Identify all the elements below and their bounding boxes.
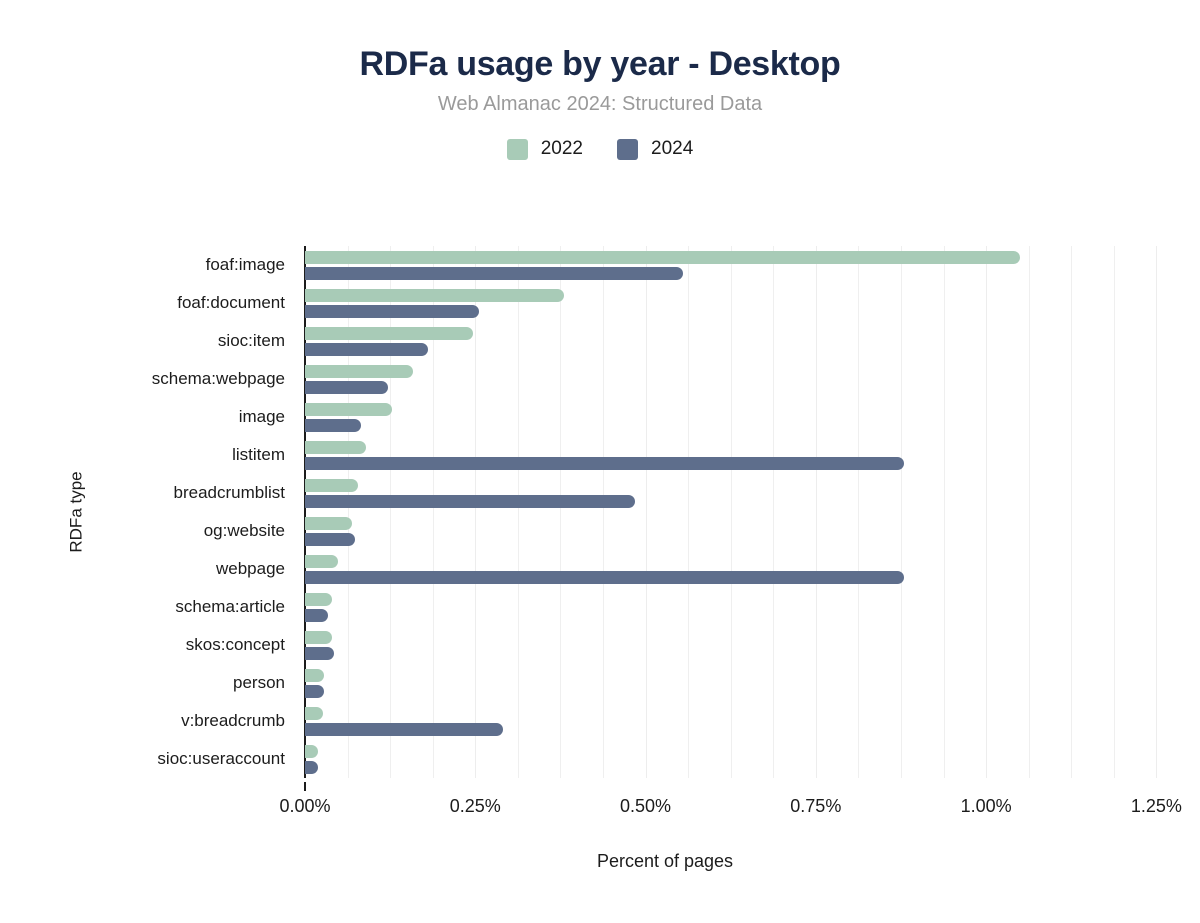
- bar-2022-schema:webpage[interactable]: [305, 365, 413, 378]
- x-axis: 0.00%0.25%0.50%0.75%1.00%1.25%: [305, 782, 1170, 822]
- bar-2022-image[interactable]: [305, 403, 392, 416]
- page-title: RDFa usage by year - Desktop: [0, 41, 1200, 87]
- y-axis-tick-label: listitem: [95, 436, 293, 474]
- y-axis-tick-label: og:website: [95, 512, 293, 550]
- x-axis-label-text: Percent of pages: [597, 851, 733, 872]
- y-axis-tick-label: sioc:useraccount: [95, 740, 293, 778]
- chart-legend: 2022 2024: [0, 136, 1200, 162]
- bar-2022-breadcrumblist[interactable]: [305, 479, 358, 492]
- y-axis-label: RDFa type: [67, 471, 87, 552]
- bar-group-schema:article: [305, 588, 1170, 626]
- bar-2024-sioc:item[interactable]: [305, 343, 428, 356]
- bar-2024-skos:concept[interactable]: [305, 647, 334, 660]
- y-axis-tick-label: sioc:item: [95, 322, 293, 360]
- x-axis-tick-mark: [304, 782, 306, 791]
- bar-series-group: [305, 246, 1170, 778]
- y-axis-tick-label: webpage: [95, 550, 293, 588]
- x-axis-tick-label: 1.25%: [1131, 796, 1182, 817]
- y-axis-tick-label: skos:concept: [95, 626, 293, 664]
- x-axis-tick-label: 0.75%: [790, 796, 841, 817]
- bar-group-sioc:useraccount: [305, 740, 1170, 778]
- bar-group-schema:webpage: [305, 360, 1170, 398]
- bar-2022-listitem[interactable]: [305, 441, 366, 454]
- bar-2022-og:website[interactable]: [305, 517, 352, 530]
- bar-2022-foaf:document[interactable]: [305, 289, 564, 302]
- y-axis-tick-label: foaf:image: [95, 246, 293, 284]
- x-axis-tick-label: 0.50%: [620, 796, 671, 817]
- bar-2022-foaf:image[interactable]: [305, 251, 1020, 264]
- chart-plot-region: RDFa type foaf:imagefoaf:documentsioc:it…: [0, 237, 1200, 787]
- bar-2022-sioc:item[interactable]: [305, 327, 473, 340]
- y-axis-tick-label: person: [95, 664, 293, 702]
- legend-item-2024[interactable]: 2024: [617, 138, 693, 160]
- bar-group-image: [305, 398, 1170, 436]
- bar-group-skos:concept: [305, 626, 1170, 664]
- bar-group-foaf:image: [305, 246, 1170, 284]
- bar-2022-person[interactable]: [305, 669, 324, 682]
- bar-group-foaf:document: [305, 284, 1170, 322]
- bar-group-breadcrumblist: [305, 474, 1170, 512]
- y-axis-tick-label: foaf:document: [95, 284, 293, 322]
- bar-2024-sioc:useraccount[interactable]: [305, 761, 318, 774]
- bar-2024-schema:webpage[interactable]: [305, 381, 388, 394]
- x-axis-tick-label: 0.00%: [279, 796, 330, 817]
- bar-group-listitem: [305, 436, 1170, 474]
- y-axis-tick-label: breadcrumblist: [95, 474, 293, 512]
- bar-2024-schema:article[interactable]: [305, 609, 328, 622]
- bar-2022-schema:article[interactable]: [305, 593, 332, 606]
- bar-group-og:website: [305, 512, 1170, 550]
- bar-2024-listitem[interactable]: [305, 457, 904, 470]
- bar-2022-sioc:useraccount[interactable]: [305, 745, 318, 758]
- bar-2022-skos:concept[interactable]: [305, 631, 332, 644]
- bar-2022-webpage[interactable]: [305, 555, 338, 568]
- bar-2024-og:website[interactable]: [305, 533, 355, 546]
- bar-group-v:breadcrumb: [305, 702, 1170, 740]
- bar-2024-foaf:document[interactable]: [305, 305, 479, 318]
- y-axis-tick-label: schema:article: [95, 588, 293, 626]
- bar-2024-image[interactable]: [305, 419, 361, 432]
- bar-2024-foaf:image[interactable]: [305, 267, 683, 280]
- y-axis-tick-label: schema:webpage: [95, 360, 293, 398]
- y-axis-tick-label: image: [95, 398, 293, 436]
- bar-group-person: [305, 664, 1170, 702]
- legend-swatch-2022: [507, 139, 528, 160]
- x-axis-tick-label: 0.25%: [450, 796, 501, 817]
- legend-swatch-2024: [617, 139, 638, 160]
- bar-2022-v:breadcrumb[interactable]: [305, 707, 323, 720]
- y-axis-tick-label: v:breadcrumb: [95, 702, 293, 740]
- x-axis-tick-label: 1.00%: [961, 796, 1012, 817]
- bar-2024-webpage[interactable]: [305, 571, 904, 584]
- x-axis-label: Percent of pages: [0, 851, 1200, 872]
- legend-label-2022: 2022: [541, 138, 583, 160]
- bar-2024-breadcrumblist[interactable]: [305, 495, 635, 508]
- legend-label-2024: 2024: [651, 138, 693, 160]
- bar-2024-person[interactable]: [305, 685, 324, 698]
- plot-area: [305, 246, 1170, 778]
- legend-item-2022[interactable]: 2022: [507, 138, 583, 160]
- bar-group-webpage: [305, 550, 1170, 588]
- chart-subtitle: Web Almanac 2024: Structured Data: [0, 90, 1200, 118]
- bar-2024-v:breadcrumb[interactable]: [305, 723, 503, 736]
- bar-group-sioc:item: [305, 322, 1170, 360]
- y-axis-tick-labels: foaf:imagefoaf:documentsioc:itemschema:w…: [95, 246, 293, 778]
